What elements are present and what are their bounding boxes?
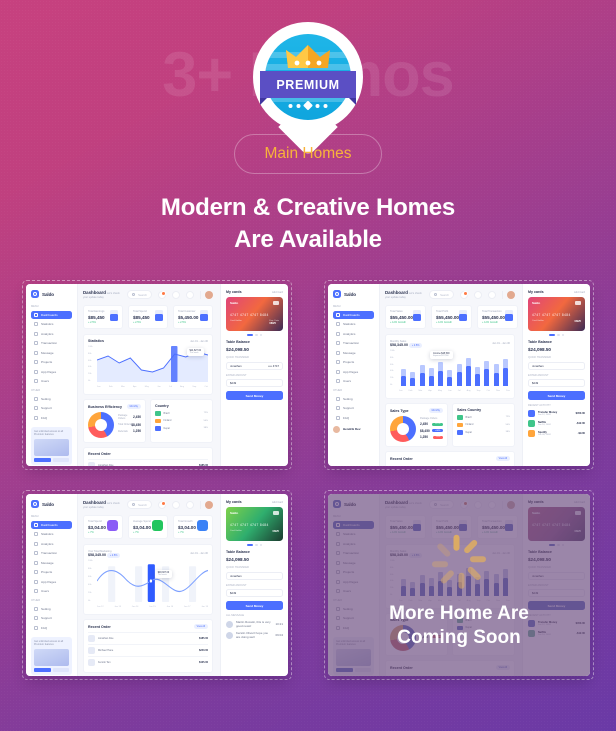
right-panel: My cards Add Card Saldo 4747 4747 4747 8…: [220, 494, 288, 676]
card-chip-icon: [575, 301, 581, 305]
brand-logo-icon: [333, 290, 341, 298]
panel-title: Recent Order: [88, 452, 111, 456]
send-money-button[interactable]: Send Money: [528, 391, 585, 400]
amount-label: Enter Amount: [226, 374, 283, 377]
sidebar-item-faq[interactable]: FAQ: [31, 624, 72, 632]
card-chip-icon: [273, 301, 279, 305]
demo-card-3[interactable]: Saldo Menu Dashboards Statistics Analyti…: [22, 490, 292, 680]
sidebar-item-users[interactable]: Users: [333, 377, 374, 385]
messages-button[interactable]: [474, 291, 482, 299]
country-row: Nepal38%: [457, 430, 510, 435]
stat-delta: + 12% Growth: [436, 321, 459, 324]
balance-value: $24,098.50: [226, 557, 283, 562]
amount-label: Enter Amount: [528, 374, 585, 377]
stat-cards: Total Earnings $85,450 + 2.5% Total Spen…: [83, 305, 213, 329]
card-number: 4747 4747 4747 8484: [230, 313, 279, 317]
avatar: [507, 291, 515, 299]
stat-card: Total Spend $85,450 + 2.5%: [128, 305, 168, 329]
user-icon: [34, 379, 38, 383]
sidebar: Saldo Menu Dashboards Statistics Analyti…: [26, 284, 78, 466]
sidebar-item-label: Dashboards: [41, 313, 58, 317]
chart-tooltip: $14,827.00 This week: [187, 348, 205, 356]
credit-card[interactable]: Saldo 4747 4747 4747 8484 Card Holder Ex…: [226, 297, 283, 331]
amount-input[interactable]: $249: [528, 379, 585, 387]
stat-delta: + 7%: [178, 531, 196, 534]
balance-label: Table Balance: [226, 340, 250, 344]
add-card-button[interactable]: Add Card: [272, 501, 283, 504]
settings-button[interactable]: [186, 501, 194, 509]
sidebar-item-label: Support: [41, 406, 52, 410]
stat-card: Total Earnings $85,450 + 2.5%: [83, 305, 123, 329]
country-row: Finland54%: [457, 423, 510, 428]
sidebar-item-label: Analytics: [41, 332, 53, 336]
chart-icon: [34, 322, 38, 326]
card-pager[interactable]: [226, 544, 283, 547]
stat-cards: Total Sales $55,450.00 + 12% Growth Tota…: [385, 305, 515, 329]
stat-label: Total Profit: [436, 310, 459, 313]
balance-label: Table Balance: [528, 340, 552, 344]
nav-section-other: Other: [31, 389, 72, 392]
view-all-button[interactable]: View All: [496, 456, 510, 461]
upgrade-promo: Get unlimited access to all Premium feat…: [31, 427, 72, 466]
demo-card-2[interactable]: Saldo Menu Dashboards Statistics Analyti…: [324, 280, 594, 470]
upgrade-promo: Get unlimited access to all Premium feat…: [31, 637, 72, 676]
sidebar-item-app-pages[interactable]: App Pages: [333, 368, 374, 376]
loading-spinner-icon: [430, 530, 488, 588]
y-axis: 100k80k60k40k20k0k: [88, 560, 96, 602]
stat-value: $5,450.00: [178, 315, 198, 320]
tooltip-label: This week: [158, 574, 170, 576]
sidebar-item-dashboards[interactable]: Dashboards: [31, 311, 72, 319]
nav-section-other: Other: [31, 599, 72, 602]
sidebar-item-label: Statistics: [41, 322, 53, 326]
card-chip-icon: [273, 511, 279, 515]
avatar: [333, 426, 340, 433]
stat-delta: + 12% Growth: [390, 321, 413, 324]
header-user[interactable]: [502, 291, 515, 299]
brand-name: Saldo: [344, 292, 356, 297]
main-homes-pill[interactable]: Main Homes: [234, 134, 382, 174]
date-range[interactable]: Jan 01 - Jan 30: [190, 552, 208, 555]
avatar: [205, 291, 213, 299]
sidebar-item-label: Transaction: [41, 341, 57, 345]
panel-value: $58,345.00: [88, 553, 106, 557]
settings-button[interactable]: [186, 291, 194, 299]
amount-label: Enter Amount: [226, 584, 283, 587]
card-holder-label: Card Holder: [230, 320, 242, 322]
search-input[interactable]: Search: [127, 500, 152, 509]
headline-line-2: Are Available: [0, 224, 616, 256]
page-title: Modern & Creative Homes Are Available: [0, 192, 616, 256]
card-brand: Saldo: [230, 301, 238, 305]
line-chart: 100k80k60k40k20k0k: [88, 560, 208, 610]
demo-card-1[interactable]: Saldo Menu Dashboards Statistics Analyti…: [22, 280, 292, 470]
recent-order-panel: Recent Order View All Jonathan Doe$185.0…: [83, 619, 213, 673]
brand-name: Saldo: [42, 502, 54, 507]
tooltip-expense: Expense $22,300: [433, 355, 449, 357]
stat-value: $55,450.00: [436, 315, 459, 320]
stat-delta: + 7%: [133, 531, 151, 534]
table-row[interactable]: Kerstin Tan$105.00: [88, 656, 208, 668]
stat-value: $3,04.00: [178, 525, 196, 530]
stat-card: Total Spend $3,04.00 + 7%: [83, 515, 123, 539]
sparkline: [155, 310, 163, 321]
brand[interactable]: Saldo: [333, 290, 374, 298]
card-brand: Saldo: [230, 511, 238, 515]
panel-title: My cards: [226, 290, 242, 294]
stat-icon-tile: [152, 520, 163, 531]
panel-title: Sales Type: [390, 409, 409, 413]
stat-value: $85,450: [88, 315, 105, 320]
sidebar-item-label: Setting: [41, 397, 51, 401]
stat-label: Average Spend: [133, 520, 151, 523]
sidebar-item-users[interactable]: Users: [31, 377, 72, 385]
sidebar-item-setting[interactable]: Setting: [31, 395, 72, 403]
x-axis: JanFebMarAprMayJun JulAugSepOctNovDec: [399, 387, 510, 394]
country-row: Brazil72%: [457, 415, 510, 420]
sidebar-item-message[interactable]: Message: [31, 349, 72, 357]
grid-icon: [34, 313, 38, 317]
nav-section-main: Menu: [31, 305, 72, 308]
send-money-button[interactable]: Send Money: [226, 601, 283, 610]
crown-icon: [286, 44, 330, 70]
premium-badge: PREMIUM: [253, 22, 363, 150]
sidebar-item-label: Message: [41, 351, 54, 355]
balance-value: $24,098.50: [528, 347, 585, 352]
line-series: [97, 560, 208, 602]
country-panel: Country Brazil72% Finland54% Nepal38%: [150, 399, 213, 443]
sidebar-item-statistics[interactable]: Statistics: [31, 320, 72, 328]
activity-row: SpotifyJan 09, 2024-$9.00: [528, 430, 585, 437]
bar-series: [399, 350, 510, 386]
card-pager[interactable]: [226, 334, 283, 337]
sparkline: [200, 310, 208, 321]
nav-section-main: Menu: [31, 515, 72, 518]
demo-grid: Saldo Menu Dashboards Statistics Analyti…: [22, 280, 594, 680]
avatar: [205, 501, 213, 509]
balance-value: $24,098.50: [226, 347, 283, 352]
sidebar-user[interactable]: Hendrik Dev: [333, 426, 374, 433]
messages-title: All Message: [226, 614, 283, 617]
brand[interactable]: Saldo: [31, 500, 72, 508]
card-exp: 08/25: [269, 322, 276, 325]
sidebar-item-faq[interactable]: FAQ: [333, 414, 374, 422]
date-range[interactable]: Jan 01 - Jan 30: [190, 340, 208, 343]
sidebar-item-transaction[interactable]: Transaction: [31, 549, 72, 557]
sidebar-item-analytics[interactable]: Analytics: [31, 540, 72, 548]
donut-chart: [390, 416, 416, 442]
notifications-button[interactable]: [460, 291, 468, 299]
topbar: Dashboard Let's check your update today …: [83, 290, 213, 299]
mail-icon: [34, 351, 38, 355]
sidebar-item-projects[interactable]: Projects: [31, 358, 72, 366]
folder-icon: [34, 360, 38, 364]
sparkline: [505, 310, 513, 321]
view-all-button[interactable]: View All: [194, 624, 208, 629]
promo-secondary-button[interactable]: [53, 458, 70, 462]
recent-order-panel: Recent Order Jonathan Doe$185.00: [83, 447, 213, 466]
recent-order-panel: Recent Order View All: [385, 451, 515, 466]
recipient-select[interactable]: Jonathan•••• 4747: [226, 362, 283, 370]
brand-logo-icon: [31, 290, 39, 298]
quick-transfer-title: Quick Transfer: [226, 356, 283, 359]
activity-title: Recent Activity: [528, 404, 585, 407]
sparkline: [413, 310, 421, 321]
stat-label: Total Customer: [178, 310, 198, 313]
monthly-sales-panel: Monthly Sales $58,345.00 + 2.5% Jan 01 -…: [385, 334, 515, 399]
stat-delta: + 2.5%: [88, 321, 105, 324]
date-range[interactable]: Jan 01 - Jan 30: [492, 342, 510, 345]
wallet-icon: [34, 341, 38, 345]
sidebar-item-support[interactable]: Support: [31, 614, 72, 622]
quick-transfer-title: Quick Transfer: [528, 356, 585, 359]
promo-image: [34, 649, 69, 666]
panel-title: Recent Order: [390, 457, 413, 461]
amount-value: $249: [230, 381, 236, 385]
credit-card[interactable]: Saldo 4747 4747 4747 8484 Card Holder08/…: [528, 297, 585, 331]
stat-card: Total Customer $5,450.00 + 2.5%: [173, 305, 213, 329]
panel-title: Business Efficiency: [88, 405, 122, 409]
sparkline: [110, 310, 118, 321]
layers-icon: [34, 370, 38, 374]
sales-country-panel: Sales Country Brazil72% Finland54% Nepal…: [452, 403, 515, 447]
dashboard-title: Dashboard: [385, 290, 408, 295]
demo-card-coming-soon[interactable]: Saldo Menu Dashboards Statistics Analyti…: [324, 490, 594, 680]
card-pager[interactable]: [528, 334, 585, 337]
sidebar-item-label: App Pages: [41, 370, 56, 374]
sidebar-item-label: Projects: [41, 360, 52, 364]
search-icon: [434, 293, 438, 297]
sidebar-item-app-pages[interactable]: App Pages: [31, 368, 72, 376]
card-number: 4747 4747 4747 8484: [532, 313, 581, 317]
country-row: Finland54%: [155, 419, 208, 424]
promo-text: Get unlimited access to all Premium feat…: [34, 640, 69, 648]
panel-title: Sales Country: [457, 408, 481, 412]
stat-delta: + 12% Growth: [482, 321, 505, 324]
recipient-select[interactable]: Jonathan: [226, 572, 283, 580]
stat-value: $3,04.00: [88, 525, 106, 530]
stat-label: Total Spend: [133, 310, 150, 313]
balance-label: Table Balance: [226, 550, 250, 554]
sidebar-item-dashboards[interactable]: Dashboards: [333, 311, 374, 319]
search-input[interactable]: Search: [127, 290, 152, 299]
sidebar-item-support[interactable]: Support: [333, 404, 374, 412]
sidebar-item-app-pages[interactable]: App Pages: [31, 578, 72, 586]
panel-value: $58,345.00: [390, 343, 408, 347]
message-row[interactable]: Martin RossHi, this is very good news!10…: [226, 620, 283, 628]
header-user[interactable]: [200, 291, 213, 299]
stat-value: $3,04.00: [133, 525, 151, 530]
y-axis: 100k80k60k40k20k0k: [390, 350, 398, 386]
marketing-panel: Your Total Marketing $58,345.00 + 2.5% J…: [83, 544, 213, 615]
activity-row: Transfer MoneyJan 12, 2024$450.00: [528, 410, 585, 417]
notifications-button[interactable]: [158, 291, 166, 299]
messages-button[interactable]: [172, 291, 180, 299]
legend: Package Orders 2,450+12% $8,450+08% 1,25…: [420, 417, 443, 442]
sidebar-item-projects[interactable]: Projects: [31, 568, 72, 576]
stat-card: Total Profit $55,450.00 + 12% Growth: [431, 305, 472, 329]
stat-card: Total Sales $55,450.00 + 12% Growth: [385, 305, 426, 329]
stat-card: Total Growth $3,04.00 + 7%: [173, 515, 213, 539]
dashboard-title: Dashboard: [83, 290, 106, 295]
panel-title: My cards: [226, 500, 242, 504]
stat-label: Total Earnings: [88, 310, 105, 313]
promo-primary-button[interactable]: [34, 458, 51, 462]
sidebar-item-label: FAQ: [41, 416, 47, 420]
stat-value: $55,450.00: [482, 315, 505, 320]
country-row: Brazil72%: [155, 411, 208, 416]
message-row[interactable]: Kerstin OliverI hope you are doing well0…: [226, 631, 283, 639]
delta-chip: + 2.5%: [409, 343, 423, 348]
area-chart: 100k80k60k40k20k0k $14,827.00: [88, 346, 208, 390]
search-input[interactable]: Search: [429, 290, 454, 299]
chart-tooltip: Income $48,500 Expense $22,300: [430, 351, 452, 359]
promo-text: Get unlimited access to all Premium feat…: [34, 430, 69, 438]
sidebar-item-statistics[interactable]: Statistics: [31, 530, 72, 538]
amount-input[interactable]: $249: [226, 379, 283, 387]
send-money-button[interactable]: Send Money: [226, 391, 283, 400]
sidebar: Saldo Menu Dashboards Statistics Analyti…: [26, 494, 78, 676]
credit-card[interactable]: Saldo 4747 4747 4747 8484 Card Holder08/…: [226, 507, 283, 541]
main-homes-label: Main Homes: [265, 145, 352, 163]
coming-soon-line-2: Coming Soon: [328, 626, 590, 650]
promo-secondary-button[interactable]: [53, 668, 70, 672]
x-axis: JanFebMarAprMay JunJulAugSepOct: [97, 383, 208, 390]
filter-chip[interactable]: Monthly: [429, 408, 443, 413]
sidebar-item-setting[interactable]: Setting: [333, 395, 374, 403]
messages-button[interactable]: [172, 501, 180, 509]
sidebar-item-users[interactable]: Users: [31, 587, 72, 595]
sidebar-item-message[interactable]: Message: [31, 559, 72, 567]
nav-section-main: Menu: [333, 305, 374, 308]
recipient-select[interactable]: Jonathan: [528, 362, 585, 370]
table-row[interactable]: Jonathan Doe$185.00: [88, 459, 208, 466]
topbar: Dashboard Let's check your update today …: [385, 290, 515, 299]
right-panel: My cards Add Card Saldo 4747 4747 4747 8…: [220, 284, 288, 466]
sidebar-item-projects[interactable]: Projects: [333, 358, 374, 366]
panel-title: My cards: [528, 290, 544, 294]
coming-soon-line-1: More Home Are: [328, 602, 590, 626]
sparkline: [459, 310, 467, 321]
stat-card: Total Transaction $55,450.00 + 12% Growt…: [477, 305, 518, 329]
stat-delta: + 2.5%: [178, 321, 198, 324]
quick-transfer-title: Quick Transfer: [226, 566, 283, 569]
add-card-button[interactable]: Add Card: [272, 291, 283, 294]
stat-value: $85,450: [133, 315, 150, 320]
sidebar-item-analytics[interactable]: Analytics: [31, 330, 72, 338]
stat-label: Total Transaction: [482, 310, 505, 313]
promo-primary-button[interactable]: [34, 668, 51, 672]
sidebar-item-label: Users: [41, 379, 49, 383]
question-icon: [34, 416, 38, 420]
coming-soon-text: More Home Are Coming Soon: [328, 602, 590, 650]
stat-label: Total Spend: [88, 520, 106, 523]
bar-chart: 100k80k60k40k20k0k: [390, 350, 510, 394]
country-row: Nepal38%: [155, 426, 208, 431]
panel-title: Recent Order: [88, 625, 111, 629]
donut-chart: [88, 412, 114, 438]
sidebar: Saldo Menu Dashboards Statistics Analyti…: [328, 284, 380, 466]
stat-icon-tile: [107, 520, 118, 531]
stat-delta: + 7%: [88, 531, 106, 534]
right-panel: My cards Add Card Saldo 4747 4747 4747 8…: [522, 284, 590, 466]
business-efficiency-panel: Business Efficiency Monthly Package Orde…: [83, 399, 146, 443]
add-card-button[interactable]: Add Card: [574, 291, 585, 294]
x-axis: Jan 12Jan 13Jan 14Jan 15 Jan 16Jan 17Jan…: [97, 603, 208, 610]
activity-row: NetflixJan 10, 2024-$12.00: [528, 420, 585, 427]
sidebar-item-statistics[interactable]: Statistics: [333, 320, 374, 328]
statistics-panel: Statistics Jan 01 - Jan 30 100k80k60k40k…: [83, 334, 213, 395]
stat-label: Total Sales: [390, 310, 413, 313]
dashboard-title: Dashboard: [83, 500, 106, 505]
headline-line-1: Modern & Creative Homes: [0, 192, 616, 224]
sidebar-item-dashboards[interactable]: Dashboards: [31, 521, 72, 529]
legend: Package Orders2,450 Total Orders$8,450 R…: [118, 414, 141, 436]
sidebar-item-setting[interactable]: Setting: [31, 605, 72, 613]
panel-title: Country: [155, 404, 169, 408]
panel-title: Statistics: [88, 339, 104, 343]
card-number: 4747 4747 4747 8484: [230, 523, 279, 527]
premium-ribbon: PREMIUM: [260, 71, 356, 98]
notifications-button[interactable]: [158, 501, 166, 509]
brand[interactable]: Saldo: [31, 290, 72, 298]
delta-chip: + 2.5%: [107, 553, 121, 558]
filter-chip[interactable]: Monthly: [127, 404, 141, 409]
sidebar-item-support[interactable]: Support: [31, 404, 72, 412]
sidebar-item-transaction[interactable]: Transaction: [333, 339, 374, 347]
stat-label: Total Growth: [178, 520, 196, 523]
search-icon: [132, 293, 136, 297]
stat-delta: + 2.5%: [133, 321, 150, 324]
card-brand: Saldo: [532, 301, 540, 305]
table-row[interactable]: Michael Hane$240.00: [88, 644, 208, 656]
pulse-icon: [34, 332, 38, 336]
search-icon: [132, 503, 136, 507]
sales-type-panel: Sales Type Monthly Package Orders 2,450+…: [385, 403, 448, 447]
premium-label: PREMIUM: [276, 78, 339, 92]
sidebar-item-message[interactable]: Message: [333, 349, 374, 357]
search-placeholder: Search: [138, 293, 147, 297]
tooltip-label: This week: [190, 352, 202, 354]
chart-tooltip: $48,827.00 This week: [155, 570, 173, 578]
stat-value: $55,450.00: [390, 315, 413, 320]
y-axis: 100k80k60k40k20k0k: [88, 346, 96, 382]
brand-name: Saldo: [42, 292, 54, 297]
amount-input[interactable]: $249: [226, 589, 283, 597]
sidebar-item-transaction[interactable]: Transaction: [31, 339, 72, 347]
topbar: Dashboard Let's check your update today …: [83, 500, 213, 509]
help-icon: [34, 406, 38, 410]
brand-logo-icon: [31, 500, 39, 508]
promo-image: [34, 439, 69, 456]
sidebar-item-analytics[interactable]: Analytics: [333, 330, 374, 338]
stat-card: Average Spend $3,04.00 + 7%: [128, 515, 168, 539]
sidebar-item-faq[interactable]: FAQ: [31, 414, 72, 422]
header-user[interactable]: [200, 501, 213, 509]
badge-dots: [289, 102, 328, 109]
table-row[interactable]: Jonathan Doe$185.00: [88, 632, 208, 644]
settings-button[interactable]: [488, 291, 496, 299]
gear-icon: [34, 397, 38, 401]
stat-icon-tile: [197, 520, 208, 531]
nav-section-other: Other: [333, 389, 374, 392]
stat-cards: Total Spend $3,04.00 + 7% Average Spend …: [83, 515, 213, 539]
